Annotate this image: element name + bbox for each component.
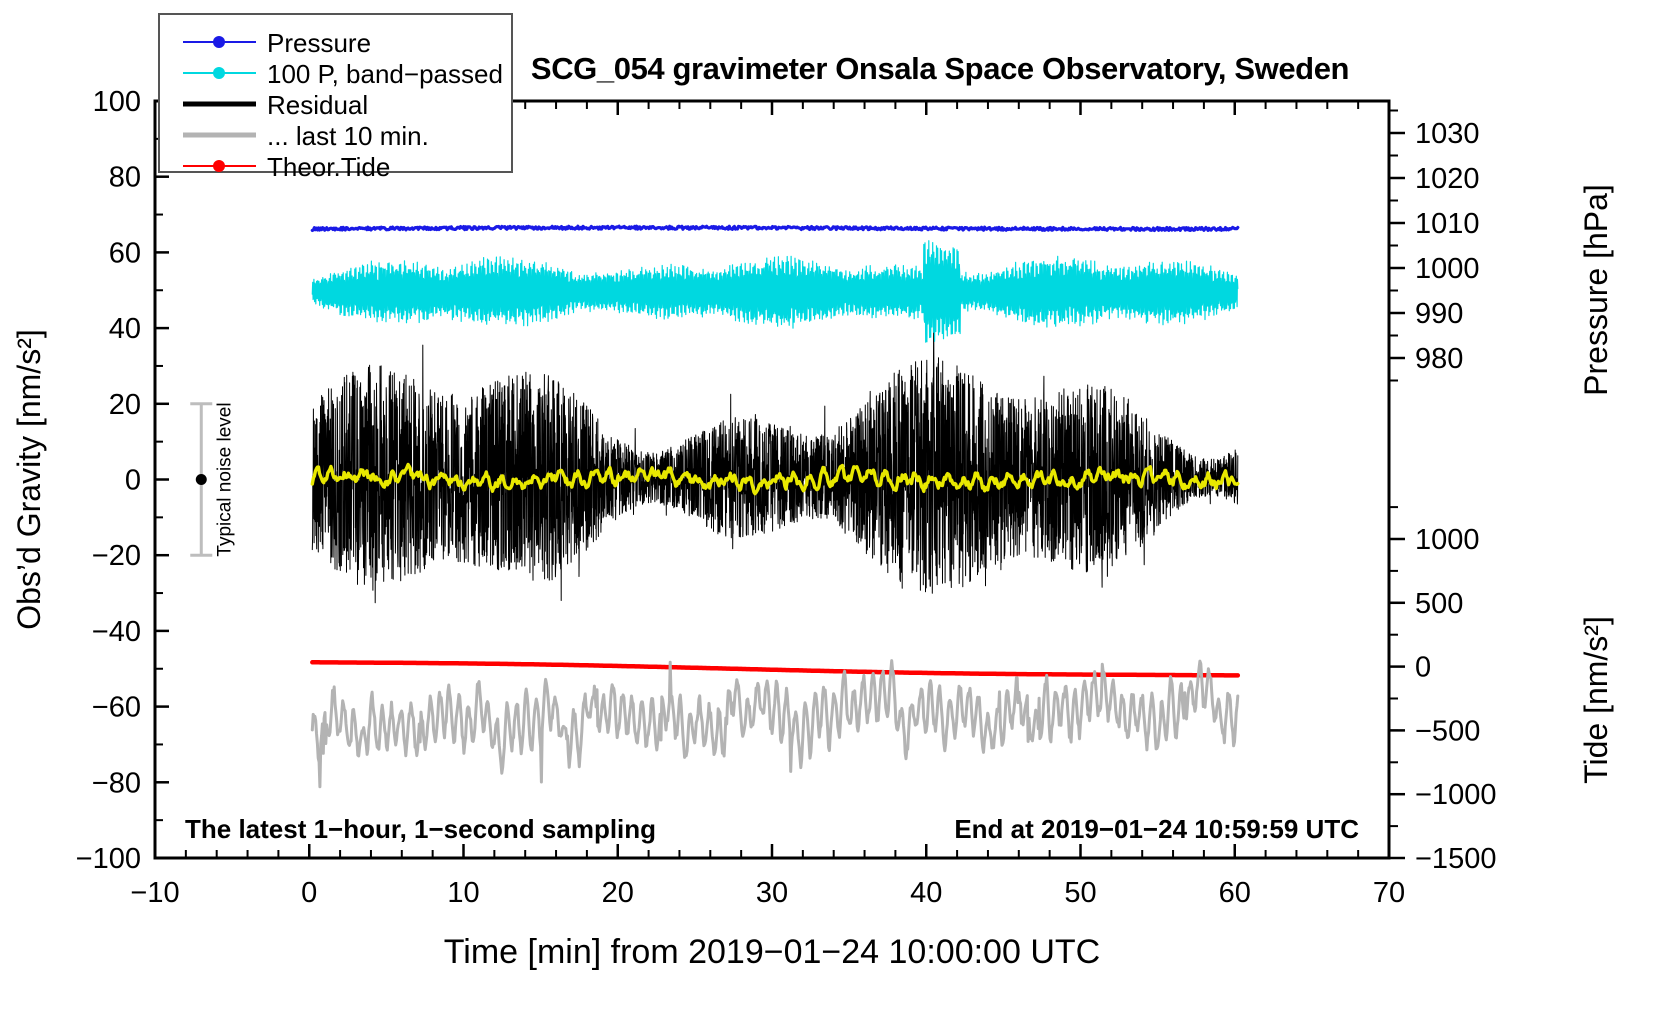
- noise-bar-center-dot: [196, 474, 207, 485]
- pressure-tick-label: 1030: [1415, 118, 1480, 150]
- legend-label-2: Residual: [267, 90, 368, 120]
- x-tick-label: 10: [447, 877, 479, 909]
- x-tick-label: 50: [1064, 877, 1096, 909]
- y-tick-label: 80: [109, 162, 141, 194]
- noise-level-label: Typical noise level: [214, 402, 235, 556]
- y-tick-label: −100: [76, 843, 141, 875]
- page-title: SCG_054 gravimeter Onsala Space Observat…: [531, 51, 1349, 86]
- legend-marker-0: [213, 36, 225, 48]
- tide-tick-label: 500: [1415, 588, 1463, 620]
- legend-label-3: ... last 10 min.: [267, 121, 429, 151]
- tide-tick-label: −500: [1415, 715, 1480, 747]
- y-tick-label: −20: [92, 540, 141, 572]
- trace-residual: [312, 313, 1238, 603]
- legend-label-4: Theor.Tide: [267, 152, 390, 182]
- legend-label-1: 100 P, band−passed: [267, 59, 503, 89]
- trace-theor-tide: [312, 662, 1238, 675]
- x-tick-label: 30: [756, 877, 788, 909]
- legend-label-0: Pressure: [267, 28, 371, 58]
- x-tick-label: 60: [1219, 877, 1251, 909]
- tide-tick-label: 1000: [1415, 524, 1480, 556]
- y-tick-label: −80: [92, 767, 141, 799]
- annotation-bottom-left: The latest 1−hour, 1−second sampling: [185, 814, 656, 844]
- pressure-tick-label: 990: [1415, 298, 1463, 330]
- y-tick-label: 100: [93, 86, 141, 118]
- pressure-tick-label: 980: [1415, 343, 1463, 375]
- plot-canvas: −10010203040506070Time [min] from 2019−0…: [0, 0, 1660, 1020]
- tide-tick-label: −1000: [1415, 779, 1496, 811]
- x-axis-title: Time [min] from 2019−01−24 10:00:00 UTC: [444, 933, 1100, 971]
- x-tick-label: 40: [910, 877, 942, 909]
- pressure-tick-label: 1010: [1415, 208, 1480, 240]
- x-tick-label: 0: [301, 877, 317, 909]
- annotation-bottom-right: End at 2019−01−24 10:59:59 UTC: [954, 814, 1359, 844]
- y-axis-title: Obs’d Gravity [nm/s²]: [11, 329, 47, 630]
- tide-tick-label: −1500: [1415, 843, 1496, 875]
- y-tick-label: 60: [109, 237, 141, 269]
- pressure-axis-title: Pressure [hPa]: [1578, 184, 1614, 396]
- x-tick-label: −10: [130, 877, 179, 909]
- x-tick-label: 20: [602, 877, 634, 909]
- trace-pressure: [312, 226, 1238, 230]
- pressure-tick-label: 1000: [1415, 253, 1480, 285]
- gravimeter-plot-page: −10010203040506070Time [min] from 2019−0…: [0, 0, 1660, 1020]
- y-tick-label: −40: [92, 616, 141, 648]
- pressure-tick-label: 1020: [1415, 163, 1480, 195]
- x-tick-label: 70: [1373, 877, 1405, 909]
- legend-marker-4: [213, 160, 225, 172]
- trace-band-passed: [312, 241, 1238, 342]
- y-tick-label: 20: [109, 389, 141, 421]
- trace-last-10-min: [312, 661, 1238, 787]
- tide-tick-label: 0: [1415, 652, 1431, 684]
- y-tick-label: 40: [109, 313, 141, 345]
- y-tick-label: −60: [92, 692, 141, 724]
- y-tick-label: 0: [125, 465, 141, 497]
- legend-marker-1: [213, 67, 225, 79]
- tide-axis-title: Tide [nm/s²]: [1578, 616, 1614, 784]
